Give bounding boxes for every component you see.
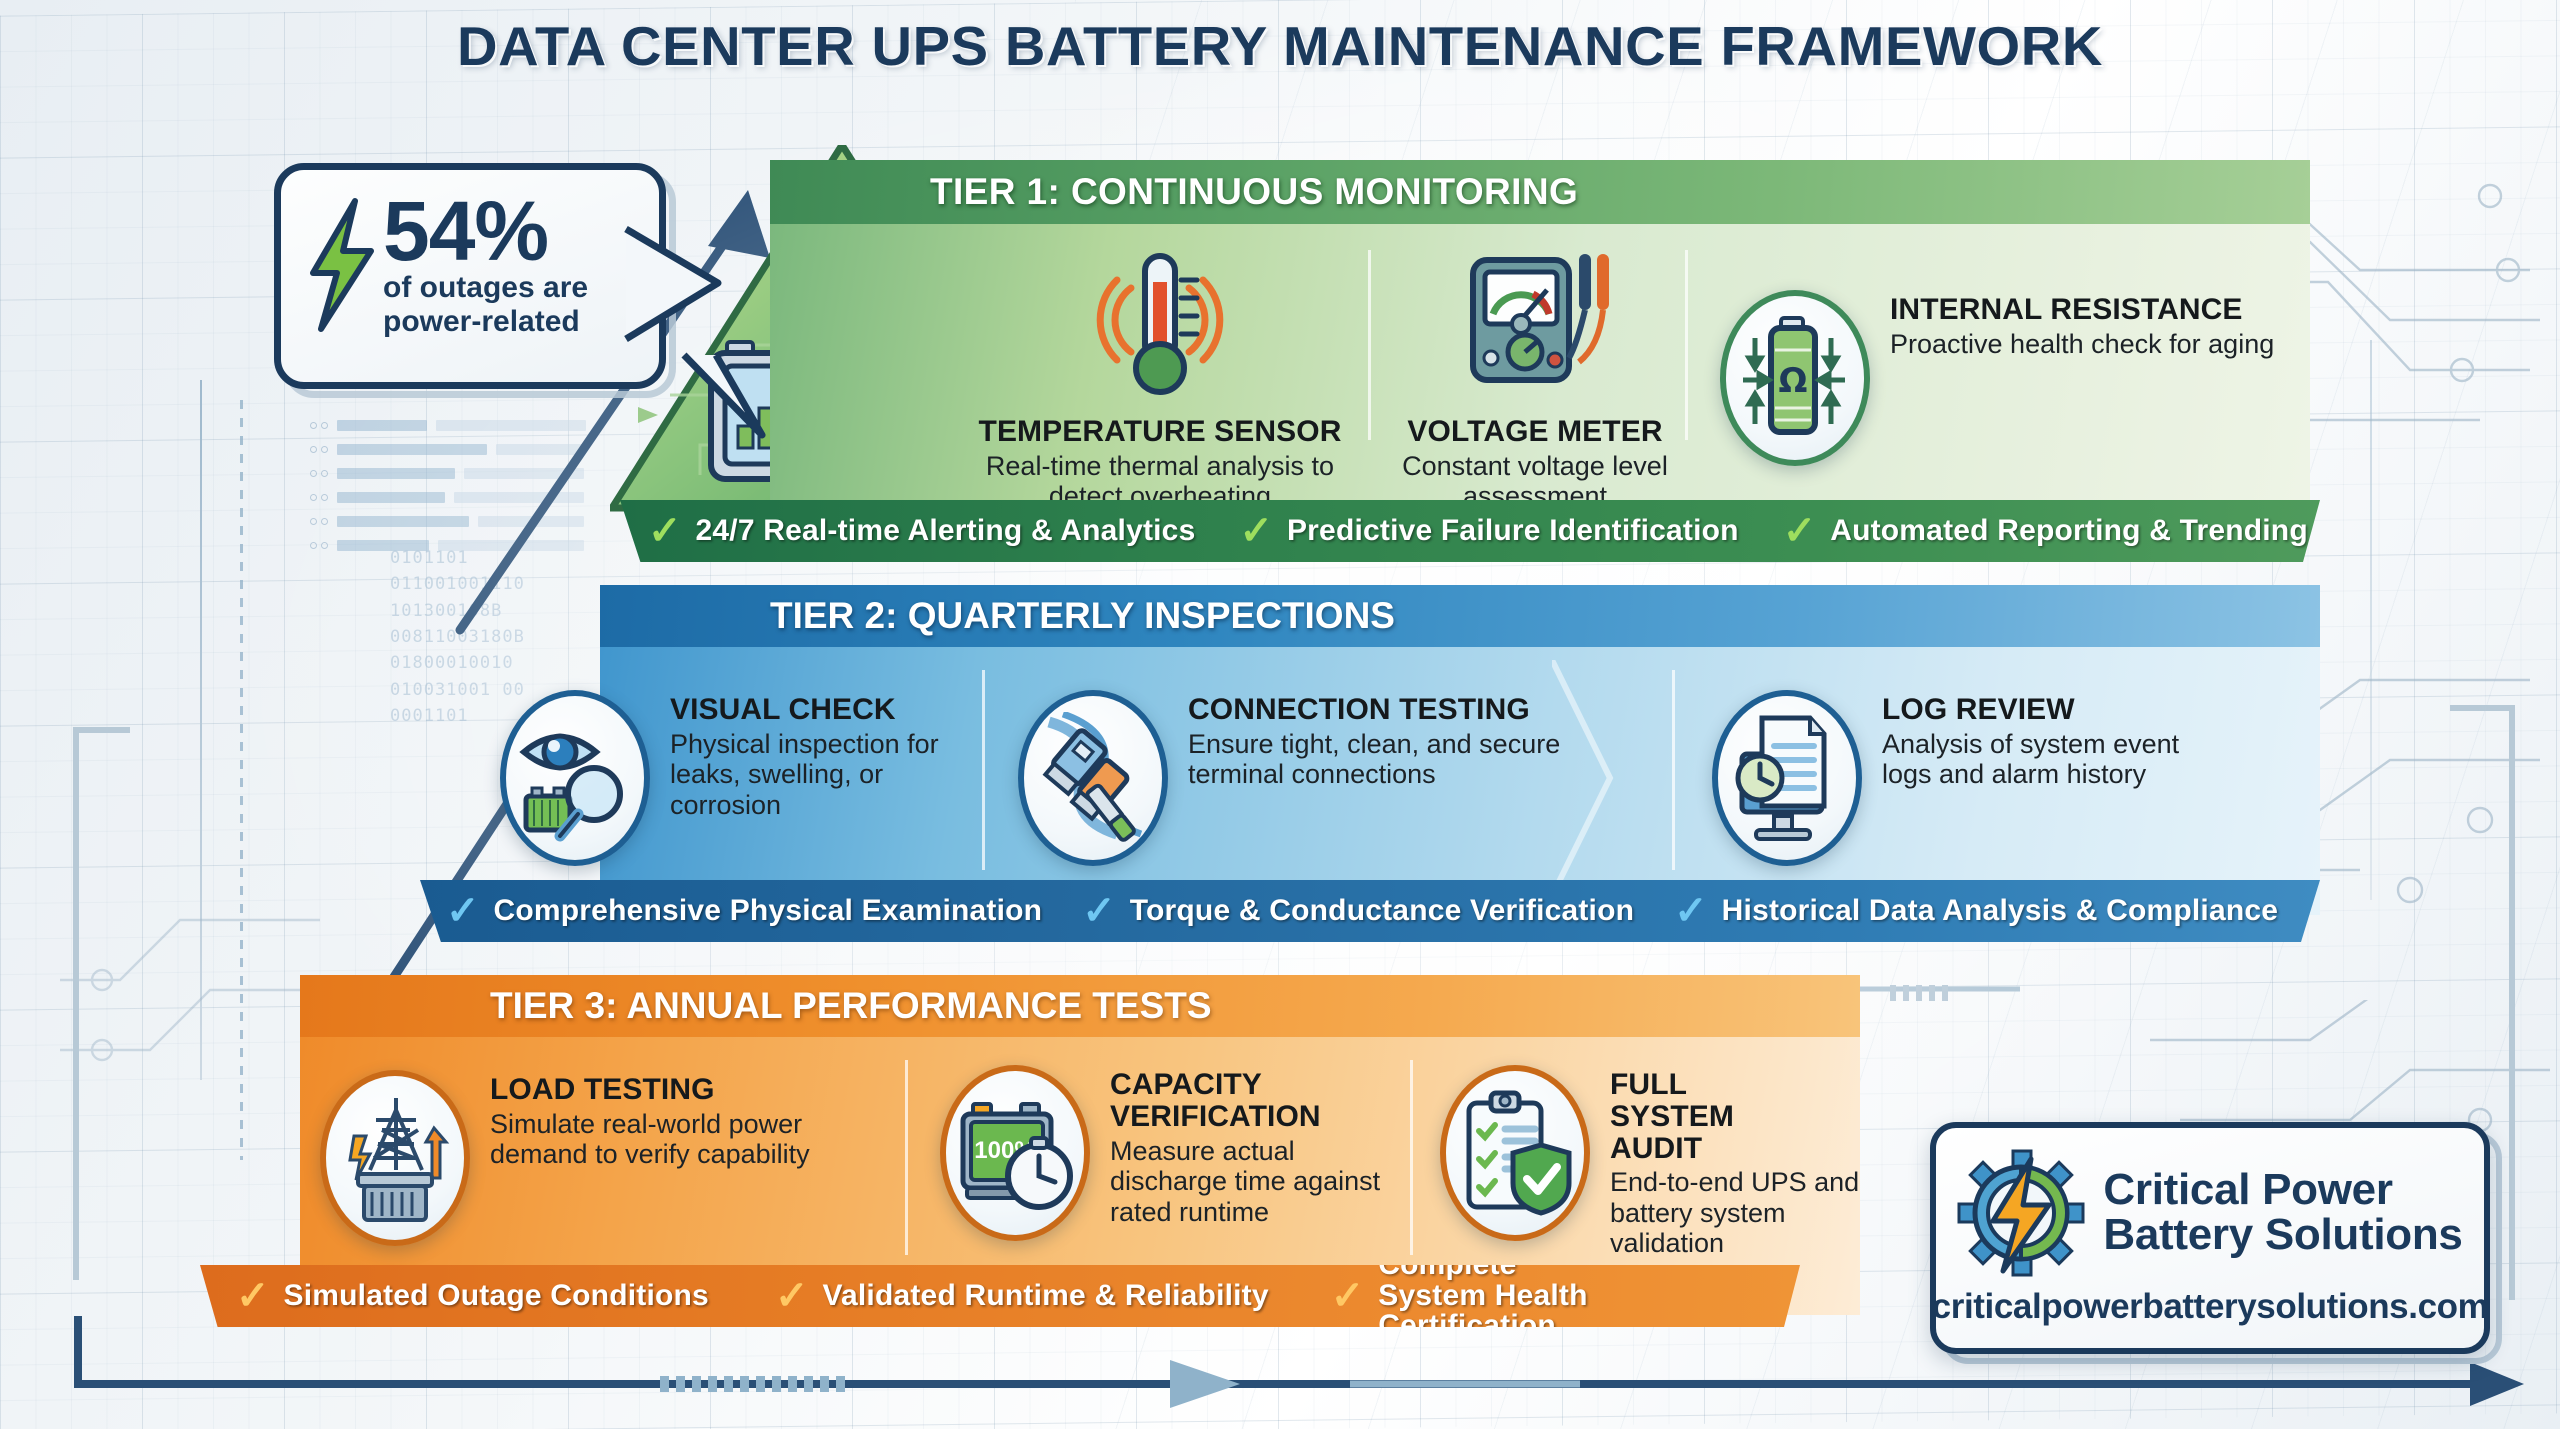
logo-name-line2: Battery Solutions bbox=[2103, 1213, 2462, 1258]
tier-1-footer-label: 24/7 Real-time Alerting & Analytics bbox=[696, 514, 1196, 548]
tier-3-item-title: LOAD TESTING bbox=[490, 1074, 820, 1106]
tier-1-footer-chip: ✓ Automated Reporting & Trending bbox=[1783, 511, 2308, 551]
tier-2-footer-chips: ✓ Comprehensive Physical Examination ✓ T… bbox=[420, 880, 2320, 942]
tier-2-header-label: TIER 2: QUARTERLY INSPECTIONS bbox=[600, 585, 2320, 647]
check-icon: ✓ bbox=[1674, 891, 1708, 931]
tier-2-item-visual-check[interactable]: VISUAL CHECK Physical inspection for lea… bbox=[500, 690, 970, 866]
tier-3-footer-chip: ✓ Validated Runtime & Reliability bbox=[775, 1276, 1269, 1316]
tier-3-footer-label: Validated Runtime & Reliability bbox=[822, 1279, 1268, 1313]
page-title: DATA CENTER UPS BATTERY MAINTENANCE FRAM… bbox=[0, 14, 2560, 78]
tier-1-item-title: VOLTAGE METER bbox=[1395, 416, 1675, 448]
tier-2-item-desc: Ensure tight, clean, and secure terminal… bbox=[1188, 729, 1568, 790]
logo-website-url[interactable]: criticalpowerbatterysolutions.com bbox=[1932, 1287, 2489, 1327]
tier-2-footer-chip: ✓ Comprehensive Physical Examination bbox=[446, 891, 1042, 931]
tier-3-divider bbox=[905, 1060, 908, 1255]
tier-1-footer-label: Automated Reporting & Trending bbox=[1830, 514, 2308, 548]
tier-2-item-title: LOG REVIEW bbox=[1882, 694, 2232, 726]
tier-2-footer-bar: ✓ Comprehensive Physical Examination ✓ T… bbox=[420, 880, 2320, 942]
tier-3-header: TIER 3: ANNUAL PERFORMANCE TESTS bbox=[300, 975, 1860, 1037]
tier-1-header: TIER 1: CONTINUOUS MONITORING bbox=[770, 160, 2310, 224]
callout-tail bbox=[626, 199, 756, 499]
tier-2-item-desc: Analysis of system event logs and alarm … bbox=[1882, 729, 2232, 790]
check-icon: ✓ bbox=[648, 511, 682, 551]
tier-1-footer-chips: ✓ 24/7 Real-time Alerting & Analytics ✓ … bbox=[620, 500, 2320, 562]
tier-2-footer-chip: ✓ Historical Data Analysis & Compliance bbox=[1674, 891, 2278, 931]
thermometer-icon bbox=[1085, 240, 1235, 400]
tier-1-footer-label: Predictive Failure Identification bbox=[1287, 514, 1739, 548]
clipboard-shield-icon bbox=[1440, 1065, 1590, 1241]
callout-percent: 54% bbox=[383, 193, 588, 270]
tier-1-item-desc: Proactive health check for aging bbox=[1890, 329, 2274, 360]
tier-1-footer-chip: ✓ 24/7 Real-time Alerting & Analytics bbox=[648, 511, 1195, 551]
tier-1-divider bbox=[1685, 250, 1688, 440]
statistic-callout: 54% of outages are power-related bbox=[274, 163, 674, 395]
tier-2-footer-chip: ✓ Torque & Conductance Verification bbox=[1082, 891, 1634, 931]
brand-logo-box[interactable]: Critical Power Battery Solutions critica… bbox=[1930, 1122, 2500, 1360]
tier-3-divider bbox=[1410, 1060, 1413, 1255]
check-icon: ✓ bbox=[1239, 511, 1273, 551]
tier-3-header-label: TIER 3: ANNUAL PERFORMANCE TESTS bbox=[300, 975, 1860, 1037]
check-icon: ✓ bbox=[1783, 511, 1817, 551]
power-pylon-battery-icon bbox=[320, 1070, 470, 1246]
tier-1-footer-bar: ✓ 24/7 Real-time Alerting & Analytics ✓ … bbox=[620, 500, 2320, 562]
tier-1-item-voltage-meter[interactable]: VOLTAGE METER Constant voltage level ass… bbox=[1395, 240, 1675, 512]
tier-3-item-capacity-verification[interactable]: 100% CAPACITY VERIFICATION Measure actua… bbox=[940, 1065, 1410, 1241]
tier-3-item-title: CAPACITY VERIFICATION bbox=[1110, 1069, 1330, 1133]
tier-3-item-title: FULL SYSTEM AUDIT bbox=[1610, 1069, 1810, 1164]
tier-1-divider bbox=[1368, 250, 1371, 440]
check-icon: ✓ bbox=[1331, 1276, 1365, 1316]
tier-2-divider bbox=[1672, 670, 1675, 870]
battery-stopwatch-icon: 100% bbox=[940, 1065, 1090, 1241]
logo-box[interactable]: Critical Power Battery Solutions critica… bbox=[1930, 1122, 2490, 1354]
callout-box: 54% of outages are power-related bbox=[274, 163, 666, 389]
document-clock-monitor-icon bbox=[1712, 690, 1862, 866]
tier-2-item-title: VISUAL CHECK bbox=[670, 694, 960, 726]
svg-text:Ω: Ω bbox=[1779, 361, 1808, 401]
tier-1-item-internal-resistance[interactable]: Ω INTERNAL RESISTANCE Proactive health c… bbox=[1720, 290, 2300, 466]
tier-3-item-desc: Measure actual discharge time against ra… bbox=[1110, 1136, 1385, 1228]
check-icon: ✓ bbox=[236, 1276, 270, 1316]
tier-2-item-connection-testing[interactable]: CONNECTION TESTING Ensure tight, clean, … bbox=[1018, 690, 1638, 866]
tier-3-item-full-system-audit[interactable]: FULL SYSTEM AUDIT End-to-end UPS and bat… bbox=[1440, 1065, 1860, 1259]
tier-3-footer-chips: ✓ Simulated Outage Conditions ✓ Validate… bbox=[200, 1265, 1800, 1327]
check-icon: ✓ bbox=[775, 1276, 809, 1316]
tier-2-header: TIER 2: QUARTERLY INSPECTIONS bbox=[600, 585, 2320, 647]
check-icon: ✓ bbox=[446, 891, 480, 931]
gear-bolt-logo-icon bbox=[1957, 1149, 2085, 1277]
tier-2-item-log-review[interactable]: LOG REVIEW Analysis of system event logs… bbox=[1712, 690, 2312, 866]
tier-1-header-label: TIER 1: CONTINUOUS MONITORING bbox=[770, 160, 2310, 224]
tier-2-divider bbox=[982, 670, 985, 870]
tier-3-item-desc: End-to-end UPS and battery system valida… bbox=[1610, 1167, 1860, 1259]
tier-3-footer-label: Simulated Outage Conditions bbox=[284, 1279, 709, 1313]
tier-3-footer-bar: ✓ Simulated Outage Conditions ✓ Validate… bbox=[200, 1265, 1800, 1327]
tier-3-footer-chip: ✓ Simulated Outage Conditions bbox=[236, 1276, 709, 1316]
voltage-meter-icon bbox=[1455, 240, 1615, 400]
tier-1-item-temperature-sensor[interactable]: TEMPERATURE SENSOR Real-time thermal ana… bbox=[975, 240, 1345, 512]
check-icon: ✓ bbox=[1082, 891, 1116, 931]
tier-1-footer-chip: ✓ Predictive Failure Identification bbox=[1239, 511, 1738, 551]
tier-3-item-desc: Simulate real-world power demand to veri… bbox=[490, 1109, 820, 1170]
tier-2-item-title: CONNECTION TESTING bbox=[1188, 694, 1568, 726]
logo-name-line1: Critical Power bbox=[2103, 1168, 2462, 1213]
tier-2-footer-label: Comprehensive Physical Examination bbox=[494, 894, 1043, 928]
lightning-bolt-icon bbox=[303, 195, 377, 335]
callout-line2: power-related bbox=[383, 306, 588, 338]
tier-3-item-load-testing[interactable]: LOAD TESTING Simulate real-world power d… bbox=[320, 1070, 880, 1246]
tier-2-footer-label: Torque & Conductance Verification bbox=[1130, 894, 1634, 928]
tier-1-item-title: INTERNAL RESISTANCE bbox=[1890, 294, 2274, 326]
tier-1-item-title: TEMPERATURE SENSOR bbox=[975, 416, 1345, 448]
callout-line1: of outages are bbox=[383, 272, 588, 304]
tier-2-footer-label: Historical Data Analysis & Compliance bbox=[1722, 894, 2278, 928]
tier-2-item-desc: Physical inspection for leaks, swelling,… bbox=[670, 729, 960, 821]
eye-magnifier-icon bbox=[500, 690, 650, 866]
cable-connector-icon bbox=[1018, 690, 1168, 866]
battery-ohm-icon: Ω bbox=[1720, 290, 1870, 466]
